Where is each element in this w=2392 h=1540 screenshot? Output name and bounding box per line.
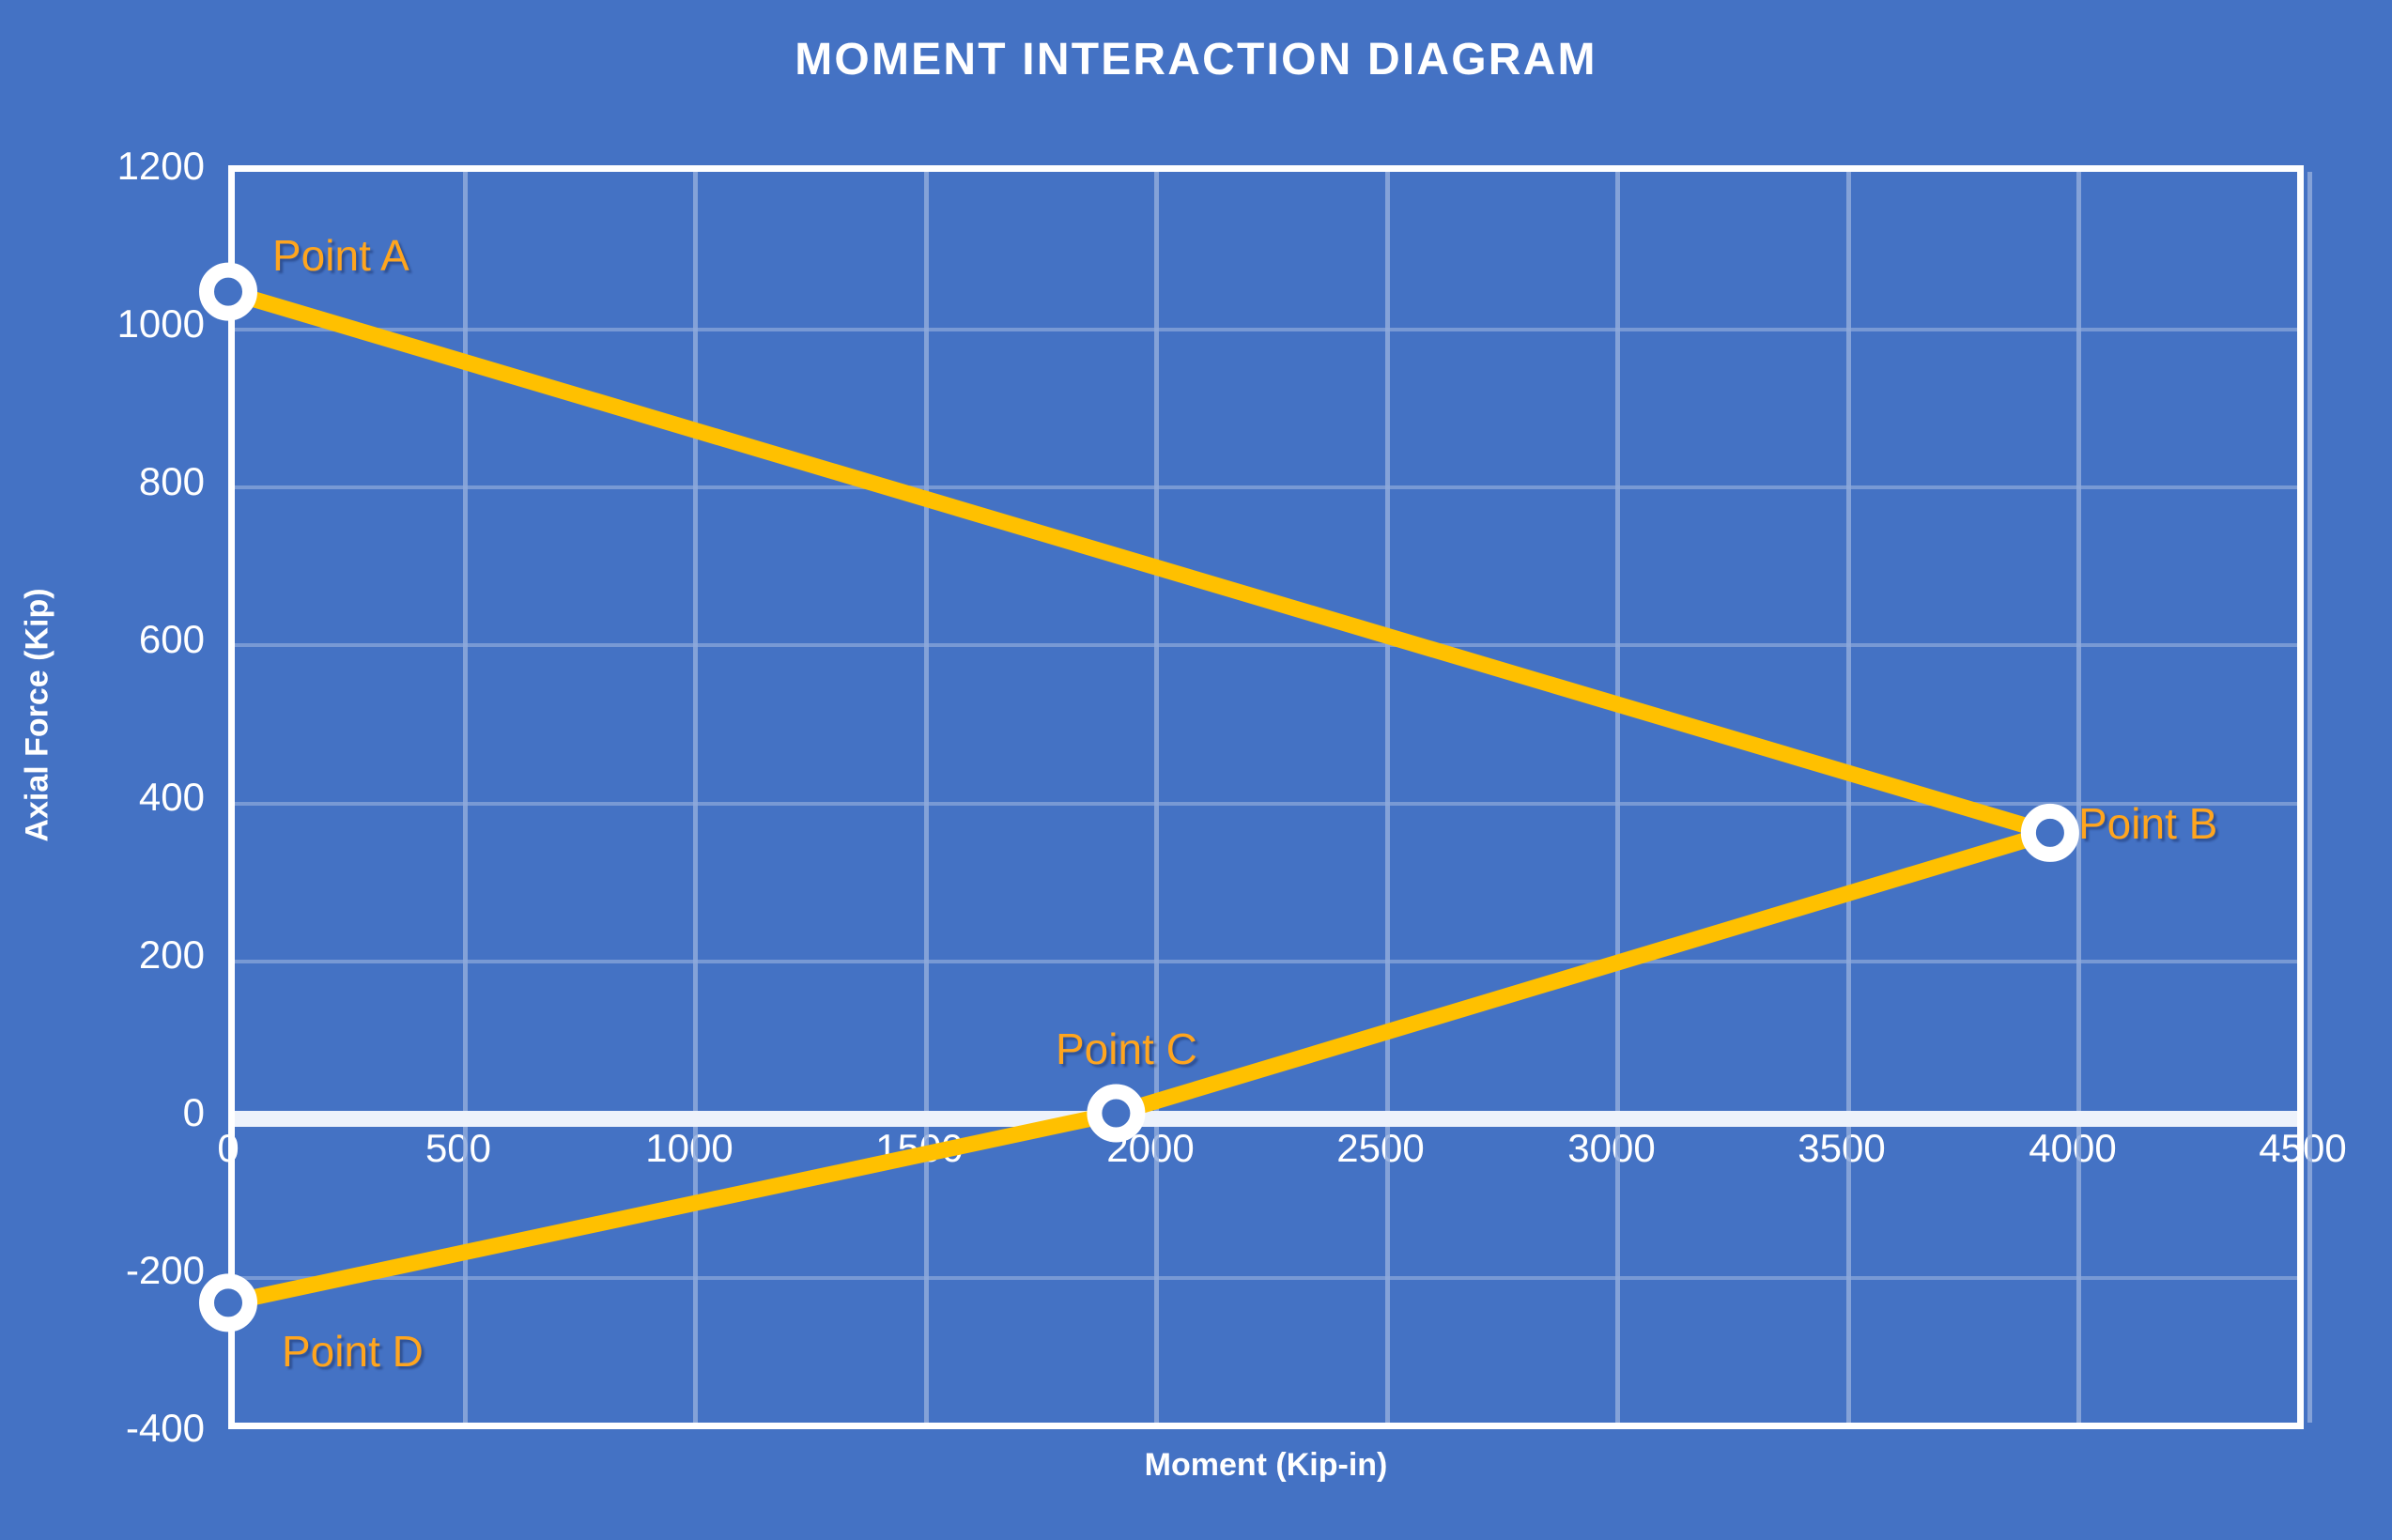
gridline-x-4000: [2076, 172, 2081, 1423]
annotation-point-b: Point B: [2078, 798, 2217, 849]
gridline-x-500: [463, 172, 468, 1423]
gridline-x-3500: [1846, 172, 1851, 1423]
gridline-y-600: [235, 643, 2297, 647]
y-tick-neg400: -400: [0, 1406, 205, 1451]
gridline-y-neg200: [235, 1276, 2297, 1280]
y-tick-200: 200: [0, 932, 205, 978]
gridline-x-2500: [1385, 172, 1390, 1423]
y-tick-800: 800: [0, 459, 205, 504]
x-axis-title: Moment (Kip-in): [228, 1447, 2304, 1484]
moment-interaction-chart: MOMENT INTERACTION DIAGRAM 1200 1000 800…: [0, 0, 2392, 1540]
gridline-x-1500: [924, 172, 929, 1423]
y-axis-title: Axial Force (Kip): [20, 518, 56, 913]
gridline-x-1000: [693, 172, 698, 1423]
gridline-y-zero: [235, 1111, 2297, 1127]
y-tick-1000: 1000: [0, 301, 205, 346]
gridline-y-1000: [235, 328, 2297, 331]
chart-title: MOMENT INTERACTION DIAGRAM: [0, 34, 2392, 85]
gridline-x-2000: [1154, 172, 1159, 1423]
y-tick-neg200: -200: [0, 1248, 205, 1293]
plot-area: [228, 165, 2304, 1429]
gridline-y-800: [235, 485, 2297, 489]
gridline-y-200: [235, 960, 2297, 963]
annotation-point-d: Point D: [282, 1326, 424, 1377]
annotation-point-a: Point A: [272, 230, 409, 281]
y-tick-1200: 1200: [0, 144, 205, 189]
annotation-point-c: Point C: [1056, 1024, 1197, 1074]
gridline-x-4500: [2307, 172, 2312, 1423]
gridline-y-400: [235, 802, 2297, 806]
gridline-x-3000: [1615, 172, 1620, 1423]
